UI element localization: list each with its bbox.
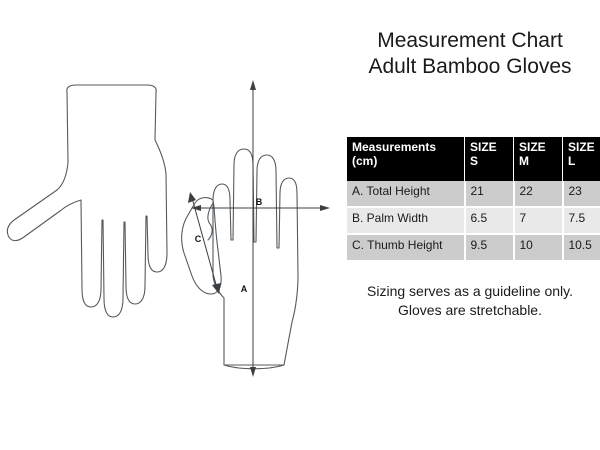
- header-size-l-sub: L: [568, 154, 600, 168]
- header-measurements-sub: (cm): [352, 154, 464, 168]
- right-glove-outline: [182, 149, 298, 369]
- table-header: Measurements (cm) SIZE S SIZE M SIZE L: [347, 137, 600, 181]
- cell-size-l-value: 23: [563, 181, 600, 207]
- header-size-m-sub: M: [519, 154, 562, 168]
- cell-measurement-label: B. Palm Width: [347, 207, 465, 234]
- cell-size-l-value: 10.5: [563, 234, 600, 260]
- sizing-note: Sizing serves as a guideline only. Glove…: [345, 282, 595, 320]
- header-cell-size-l: SIZE L: [563, 137, 600, 181]
- header-cell-size-s: SIZE S: [465, 137, 514, 181]
- cell-size-s-value: 9.5: [465, 234, 514, 260]
- note-line-2: Gloves are stretchable.: [345, 301, 595, 320]
- header-size-s-main: SIZE: [470, 140, 497, 154]
- glove-illustration: A B C: [0, 70, 345, 390]
- header-size-s-sub: S: [470, 154, 513, 168]
- cell-measurement-label: C. Thumb Height: [347, 234, 465, 260]
- cell-size-m-value: 10: [514, 234, 563, 260]
- title-line-1: Measurement Chart: [345, 28, 595, 54]
- dimension-b-label: B: [256, 197, 263, 207]
- cell-size-s-value: 6.5: [465, 207, 514, 234]
- header-cell-measurements: Measurements (cm): [347, 137, 465, 181]
- table-row: A. Total Height 21 22 23: [347, 181, 600, 207]
- cell-size-s-value: 21: [465, 181, 514, 207]
- measurements-table: Measurements (cm) SIZE S SIZE M SIZE L: [347, 137, 600, 260]
- dimension-c-label: C: [195, 234, 202, 244]
- table-row: B. Palm Width 6.5 7 7.5: [347, 207, 600, 234]
- dimension-a-label: A: [241, 284, 248, 294]
- cell-size-m-value: 22: [514, 181, 563, 207]
- cell-size-m-value: 7: [514, 207, 563, 234]
- header-size-l-main: SIZE: [568, 140, 595, 154]
- header-size-m-main: SIZE: [519, 140, 546, 154]
- cell-measurement-label: A. Total Height: [347, 181, 465, 207]
- left-glove-outline: [7, 85, 167, 317]
- measurement-chart-page: A B C Measurement Chart Adult Bamboo Glo…: [0, 0, 600, 450]
- page-title: Measurement Chart Adult Bamboo Gloves: [345, 28, 595, 80]
- table-body: A. Total Height 21 22 23 B. Palm Width 6…: [347, 181, 600, 260]
- table-row: C. Thumb Height 9.5 10 10.5: [347, 234, 600, 260]
- header-cell-size-m: SIZE M: [514, 137, 563, 181]
- header-measurements-main: Measurements: [352, 140, 436, 154]
- cell-size-l-value: 7.5: [563, 207, 600, 234]
- note-line-1: Sizing serves as a guideline only.: [345, 282, 595, 301]
- table-header-row: Measurements (cm) SIZE S SIZE M SIZE L: [347, 137, 600, 181]
- title-line-2: Adult Bamboo Gloves: [345, 54, 595, 80]
